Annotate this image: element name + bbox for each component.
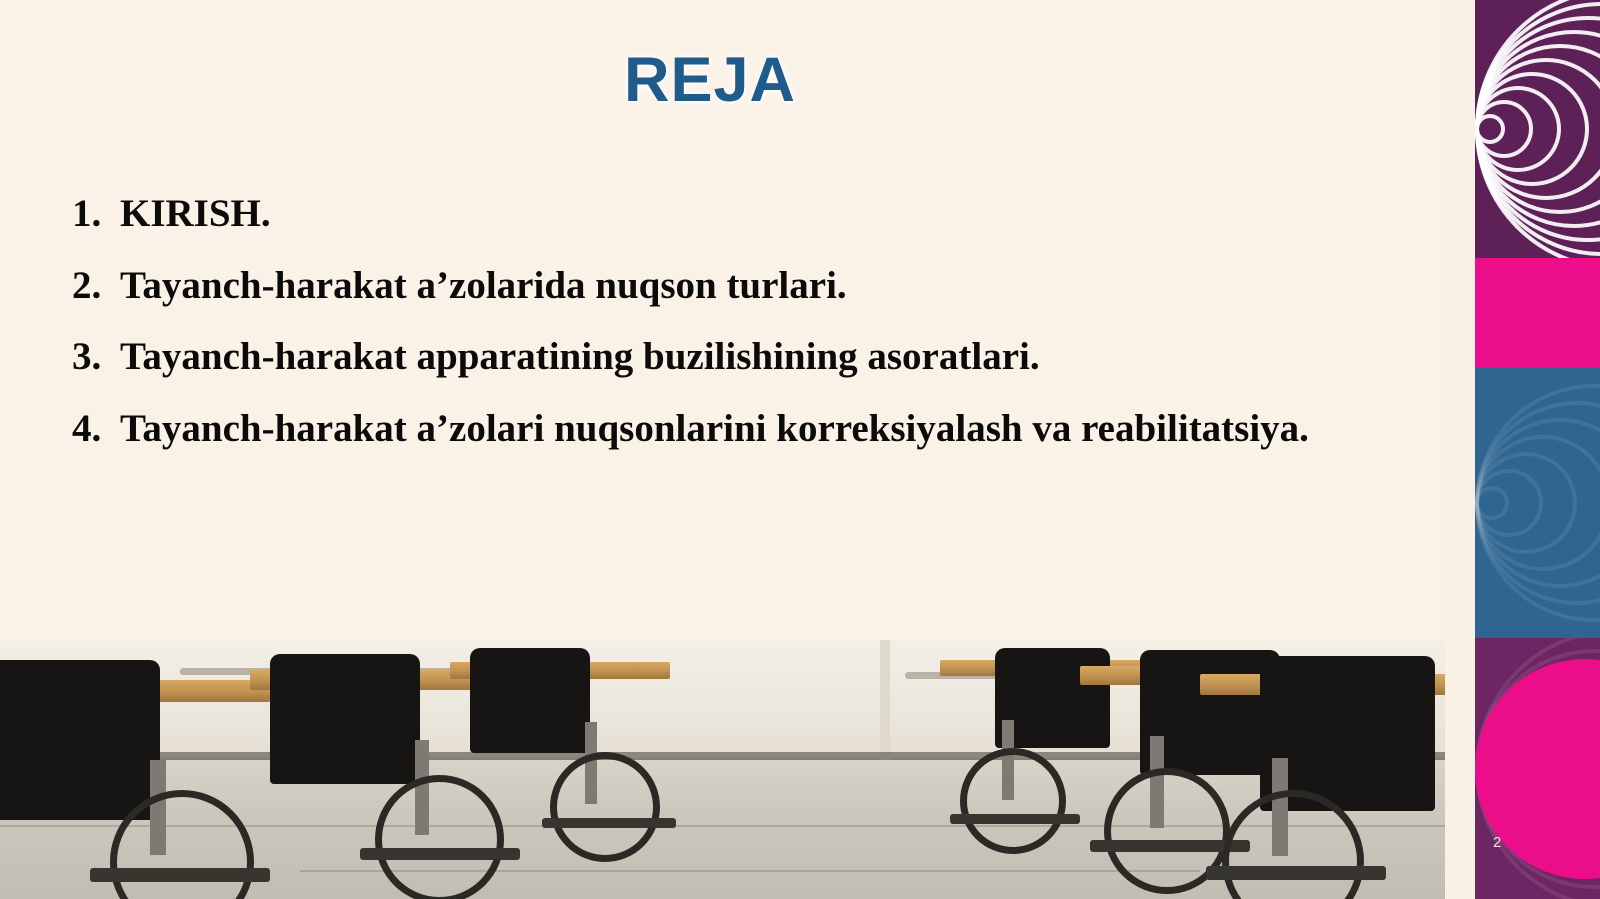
list-item: 1. KIRISH.: [72, 192, 1394, 236]
list-item-number: 2.: [72, 264, 120, 308]
list-item: 2. Tayanch-harakat a’zolarida nuqson tur…: [72, 264, 1394, 308]
plan-list: 1. KIRISH. 2. Tayanch-harakat a’zolarida…: [72, 192, 1394, 479]
presentation-slide: REJA 1. KIRISH. 2. Tayanch-harakat a’zol…: [0, 0, 1600, 899]
list-item: 4. Tayanch-harakat a’zolari nuqsonlarini…: [72, 407, 1394, 451]
sidebar-band-blue: [1475, 368, 1600, 638]
list-item-number: 4.: [72, 407, 120, 451]
sidebar-band-purple: [1475, 0, 1600, 258]
sidebar-band-bottom: 2: [1475, 638, 1600, 899]
list-item-label: Tayanch-harakat a’zolarida nuqson turlar…: [120, 264, 1394, 308]
classroom-photo: [0, 640, 1445, 899]
sidebar-band-magenta: [1475, 258, 1600, 368]
slide-number: 2: [1493, 834, 1501, 851]
photo-desk-wheelchair-unit: [1200, 640, 1445, 899]
list-item-label: Tayanch-harakat apparatining buzilishini…: [120, 335, 1394, 379]
list-item-number: 1.: [72, 192, 120, 236]
photo-door: [880, 640, 890, 760]
list-item: 3. Tayanch-harakat apparatining buzilish…: [72, 335, 1394, 379]
list-item-label: KIRISH.: [120, 192, 1394, 236]
decorative-sidebar: 2: [1475, 0, 1600, 899]
page-title: REJA: [0, 44, 1420, 116]
list-item-number: 3.: [72, 335, 120, 379]
slide-content-area: REJA 1. KIRISH. 2. Tayanch-harakat a’zol…: [0, 0, 1445, 640]
list-item-label: Tayanch-harakat a’zolari nuqsonlarini ko…: [120, 407, 1394, 451]
photo-desk-wheelchair-unit: [450, 640, 690, 899]
